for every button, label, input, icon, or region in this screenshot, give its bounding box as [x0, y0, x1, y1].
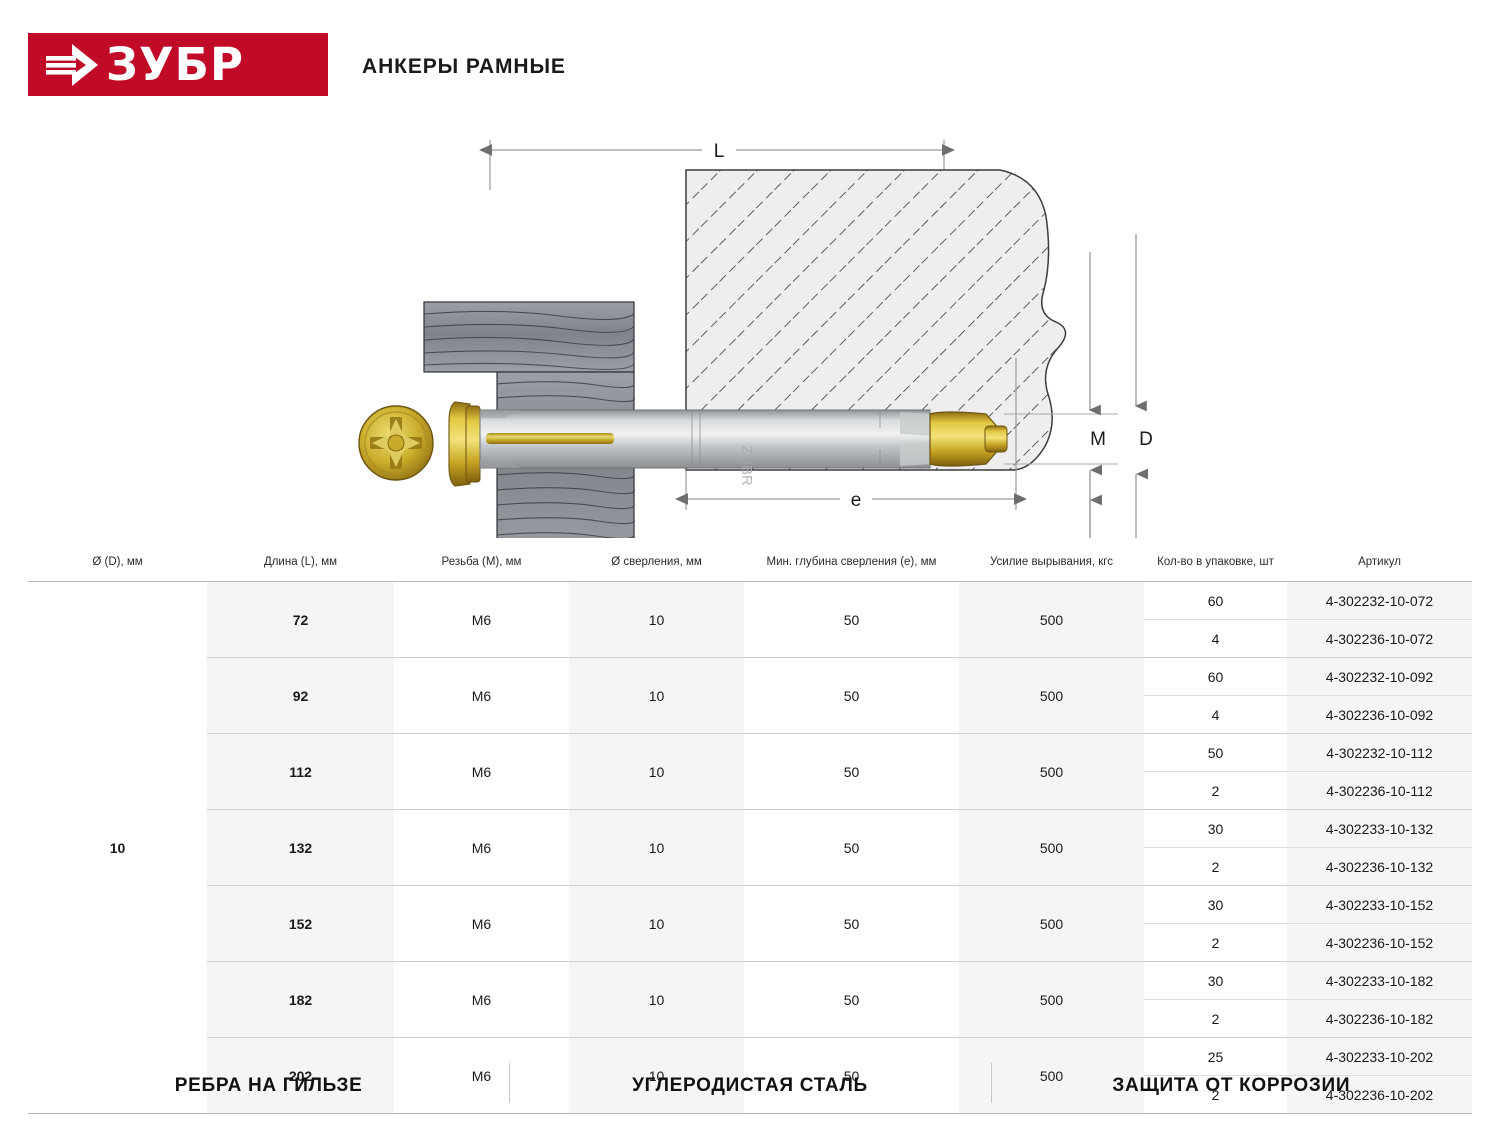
zubr-arrow-icon [42, 42, 104, 88]
specification-table: Ø (D), мм Длина (L), мм Резьба (M), мм Ø… [28, 552, 1472, 1114]
cell-min-depth: 50 [744, 658, 959, 734]
cell-pack-qty: 60 [1144, 582, 1287, 620]
table-row: 112M61050500504-302232-10-112 [28, 734, 1472, 772]
cell-pullout-force: 500 [959, 886, 1144, 962]
cell-article: 4-302236-10-132 [1287, 848, 1472, 886]
cell-diameter: 10 [28, 582, 207, 1114]
svg-text:e: e [851, 490, 862, 511]
cell-pack-qty: 4 [1144, 696, 1287, 734]
cell-length: 132 [207, 810, 394, 886]
cell-pack-qty: 30 [1144, 810, 1287, 848]
svg-text:L: L [714, 141, 725, 162]
table-row: 182M61050500304-302233-10-182 [28, 962, 1472, 1000]
cell-pullout-force: 500 [959, 734, 1144, 810]
cell-thread: M6 [394, 886, 569, 962]
cell-article: 4-302233-10-182 [1287, 962, 1472, 1000]
cell-thread: M6 [394, 582, 569, 658]
header-pullout-force: Усилие вырывания, кгс [959, 552, 1144, 582]
table-row: 92M61050500604-302232-10-092 [28, 658, 1472, 696]
svg-text:D: D [1139, 429, 1153, 450]
brand-name: ЗУБР [106, 42, 244, 87]
cell-thread: M6 [394, 658, 569, 734]
header-drill-diameter: Ø сверления, мм [569, 552, 744, 582]
cell-article: 4-302233-10-132 [1287, 810, 1472, 848]
header-article: Артикул [1287, 552, 1472, 582]
cell-pack-qty: 2 [1144, 848, 1287, 886]
table-row: 1072M61050500604-302232-10-072 [28, 582, 1472, 620]
cell-article: 4-302236-10-152 [1287, 924, 1472, 962]
technical-diagram: L [0, 118, 1500, 538]
cell-article: 4-302232-10-112 [1287, 734, 1472, 772]
cell-drill-diameter: 10 [569, 810, 744, 886]
cell-thread: M6 [394, 810, 569, 886]
cell-min-depth: 50 [744, 810, 959, 886]
cell-thread: M6 [394, 962, 569, 1038]
cell-pack-qty: 4 [1144, 620, 1287, 658]
cell-article: 4-302232-10-072 [1287, 582, 1472, 620]
cell-drill-diameter: 10 [569, 734, 744, 810]
cell-pack-qty: 50 [1144, 734, 1287, 772]
feature-item-3: ЗАЩИТА ОТ КОРРОЗИИ [991, 1075, 1472, 1097]
cell-pack-qty: 60 [1144, 658, 1287, 696]
cell-pullout-force: 500 [959, 658, 1144, 734]
cell-article: 4-302233-10-152 [1287, 886, 1472, 924]
cell-drill-diameter: 10 [569, 886, 744, 962]
cell-length: 72 [207, 582, 394, 658]
table-row: 152M61050500304-302233-10-152 [28, 886, 1472, 924]
cell-length: 182 [207, 962, 394, 1038]
header-min-depth: Мин. глубина сверления (e), мм [744, 552, 959, 582]
cell-article: 4-302236-10-182 [1287, 1000, 1472, 1038]
cell-length: 92 [207, 658, 394, 734]
cell-pack-qty: 30 [1144, 962, 1287, 1000]
svg-text:ZUBR: ZUBR [738, 445, 755, 486]
feature-item-1: РЕБРА НА ГИЛЬЗЕ [28, 1075, 509, 1097]
page-title: АНКЕРЫ РАМНЫЕ [362, 55, 566, 79]
cell-pullout-force: 500 [959, 582, 1144, 658]
cell-article: 4-302236-10-072 [1287, 620, 1472, 658]
header-diameter: Ø (D), мм [28, 552, 207, 582]
cell-pullout-force: 500 [959, 810, 1144, 886]
feature-item-2: УГЛЕРОДИСТАЯ СТАЛЬ [509, 1075, 990, 1097]
cell-pack-qty: 2 [1144, 772, 1287, 810]
cell-article: 4-302236-10-112 [1287, 772, 1472, 810]
cell-min-depth: 50 [744, 582, 959, 658]
product-spec-sheet: ЗУБР АНКЕРЫ РАМНЫЕ [0, 0, 1500, 1125]
cell-pack-qty: 2 [1144, 924, 1287, 962]
cell-length: 112 [207, 734, 394, 810]
header-thread: Резьба (M), мм [394, 552, 569, 582]
header-length: Длина (L), мм [207, 552, 394, 582]
cell-article: 4-302232-10-092 [1287, 658, 1472, 696]
cell-pullout-force: 500 [959, 962, 1144, 1038]
page-header: ЗУБР АНКЕРЫ РАМНЫЕ [0, 0, 1500, 120]
cell-article: 4-302236-10-092 [1287, 696, 1472, 734]
cell-pack-qty: 30 [1144, 886, 1287, 924]
pozidriv-screw-head [359, 406, 433, 480]
cell-drill-diameter: 10 [569, 658, 744, 734]
cell-min-depth: 50 [744, 734, 959, 810]
brand-logo: ЗУБР [28, 33, 328, 96]
cell-drill-diameter: 10 [569, 582, 744, 658]
table-row: 132M61050500304-302233-10-132 [28, 810, 1472, 848]
cell-thread: M6 [394, 734, 569, 810]
table-header-row: Ø (D), мм Длина (L), мм Резьба (M), мм Ø… [28, 552, 1472, 582]
cell-min-depth: 50 [744, 962, 959, 1038]
cell-length: 152 [207, 886, 394, 962]
header-pack-qty: Кол-во в упаковке, шт [1144, 552, 1287, 582]
cell-min-depth: 50 [744, 886, 959, 962]
feature-banner: РЕБРА НА ГИЛЬЗЕ УГЛЕРОДИСТАЯ СТАЛЬ ЗАЩИТ… [28, 1062, 1472, 1110]
cell-pack-qty: 2 [1144, 1000, 1287, 1038]
cell-drill-diameter: 10 [569, 962, 744, 1038]
svg-text:M: M [1090, 429, 1106, 450]
